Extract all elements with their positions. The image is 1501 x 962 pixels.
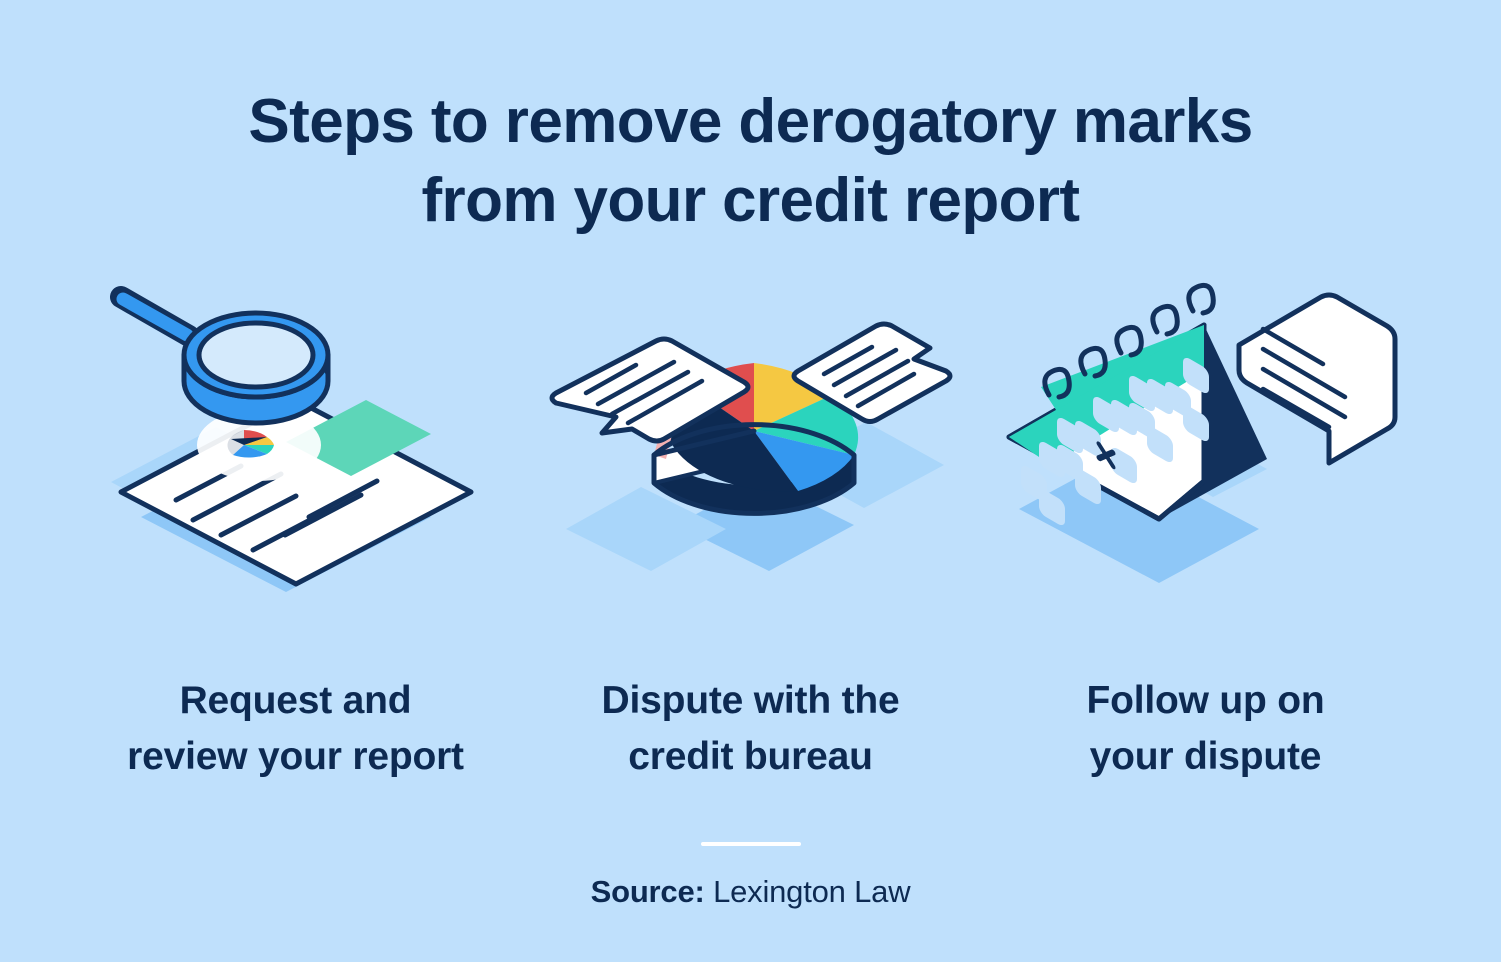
source-line: Source: Lexington Law xyxy=(591,874,911,910)
step-3-caption-line-2: your dispute xyxy=(1086,729,1324,786)
pie-chart-illustration xyxy=(536,267,966,617)
step-2-caption-line-1: Dispute with the xyxy=(602,673,900,730)
step-1-caption-line-2: review your report xyxy=(127,729,464,786)
calendar-illustration xyxy=(991,267,1421,617)
step-2-caption-line-2: credit bureau xyxy=(602,729,900,786)
document-magnifier-illustration xyxy=(81,267,511,617)
steps-row: Request and review your report xyxy=(81,267,1421,786)
step-follow-up: Follow up on your dispute xyxy=(991,267,1421,786)
step-2-caption: Dispute with the credit bureau xyxy=(602,673,900,786)
title-line-1: Steps to remove derogatory marks xyxy=(121,82,1381,161)
step-request-and-review: Request and review your report xyxy=(81,267,511,786)
step-1-caption-line-1: Request and xyxy=(127,673,464,730)
magnifier-icon xyxy=(121,297,328,423)
step-3-caption: Follow up on your dispute xyxy=(1086,673,1324,786)
step-dispute-with-bureau: Dispute with the credit bureau xyxy=(536,267,966,786)
source-value: Lexington Law xyxy=(713,874,910,909)
title-line-2: from your credit report xyxy=(121,161,1381,240)
source-label: Source: xyxy=(591,874,705,909)
speech-bubble-calendar xyxy=(1239,295,1395,463)
step-3-caption-line-1: Follow up on xyxy=(1086,673,1324,730)
page-title: Steps to remove derogatory marks from yo… xyxy=(121,82,1381,241)
footer: Source: Lexington Law xyxy=(591,842,911,910)
step-1-caption: Request and review your report xyxy=(127,673,464,786)
footer-divider xyxy=(701,842,801,846)
infographic-root: Steps to remove derogatory marks from yo… xyxy=(0,0,1501,962)
